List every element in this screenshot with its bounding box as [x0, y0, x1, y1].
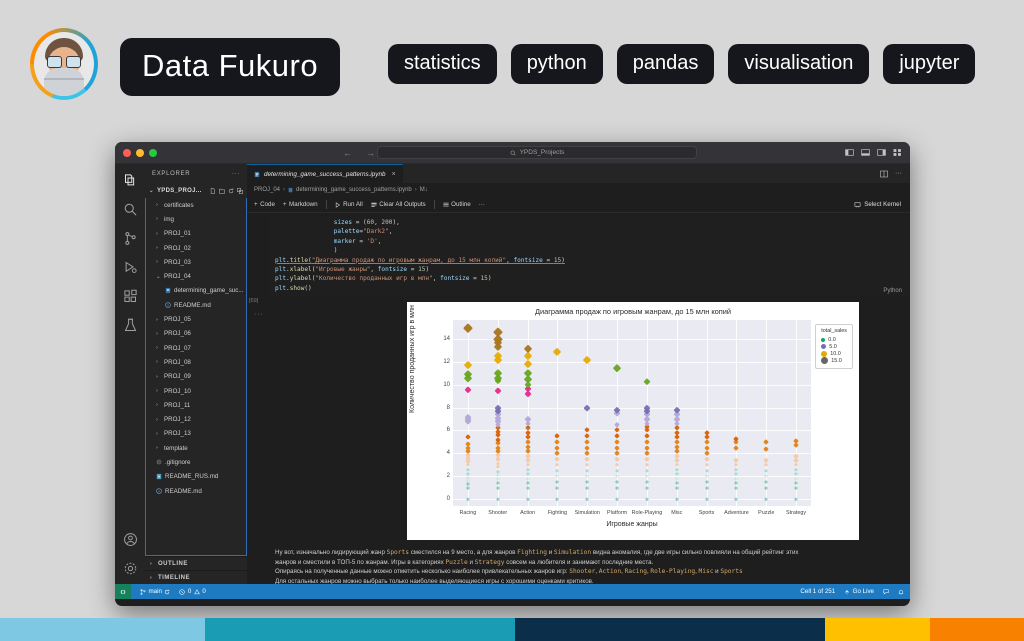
- scatter-point: [675, 486, 679, 490]
- scatter-point: [585, 480, 589, 484]
- select-kernel-label: Select Kernel: [864, 201, 901, 208]
- cell-language[interactable]: Python: [883, 288, 902, 294]
- git-file-icon: [156, 459, 162, 466]
- scatter-point: [584, 404, 591, 411]
- scatter-point: [525, 467, 530, 472]
- genre-mention: Shooter: [569, 568, 595, 575]
- y-tick-label: 0: [447, 496, 450, 502]
- minimize-window-icon[interactable]: [136, 149, 144, 157]
- scatter-point: [763, 439, 769, 445]
- x-tick-label: Sports: [699, 510, 715, 516]
- chevron-right-icon: ›: [156, 331, 161, 337]
- explorer-section-timeline[interactable]: › TIMELINE: [145, 570, 247, 584]
- clear-all-outputs-button[interactable]: Clear All Outputs: [371, 201, 426, 208]
- scatter-point: [675, 498, 679, 502]
- add-markdown-label: Markdown: [289, 201, 318, 208]
- grid-line-horizontal: [453, 408, 811, 409]
- scatter-point: [674, 462, 679, 467]
- scatter-point: [526, 486, 530, 490]
- scatter-point: [644, 451, 649, 456]
- x-tick-label: Misc: [671, 510, 682, 516]
- tree-folder-proj_12[interactable]: ›PROJ_12: [146, 412, 246, 426]
- scatter-point: [645, 486, 649, 490]
- tree-item-label: PROJ_11: [164, 402, 190, 409]
- scatter-point: [615, 480, 619, 484]
- branch-label: main: [149, 588, 162, 595]
- color-band: [0, 618, 205, 641]
- tag-python: python: [511, 44, 603, 84]
- scatter-point: [555, 486, 559, 490]
- y-tick-label: 10: [443, 382, 450, 388]
- tree-folder-proj_13[interactable]: ›PROJ_13: [146, 427, 246, 441]
- ellipsis-icon[interactable]: ···: [232, 171, 240, 177]
- scatter-point: [613, 364, 621, 372]
- scatter-point: [614, 451, 619, 456]
- tree-item-label: certificates: [164, 202, 194, 209]
- tree-item-label: PROJ_03: [164, 259, 191, 266]
- tab-strip: determining_game_success_patterns.ipynb …: [247, 164, 910, 183]
- tree-file-readme.md[interactable]: README.md: [146, 484, 246, 498]
- chevron-right-icon: ›: [156, 202, 161, 208]
- legend-item: 5.0: [821, 343, 847, 350]
- y-tick-label: 8: [447, 405, 450, 411]
- tree-item-label: PROJ_02: [164, 245, 191, 252]
- explorer-section-outline[interactable]: › OUTLINE: [145, 556, 247, 570]
- new-file-icon[interactable]: [210, 188, 216, 194]
- divider: [326, 200, 327, 209]
- genre-mention: Racing: [625, 568, 647, 575]
- chevron-right-icon: ›: [415, 187, 417, 193]
- scatter-point: [496, 481, 500, 485]
- genre-mention: Role-Playing: [650, 568, 695, 575]
- legend-label: 15.0: [831, 358, 842, 364]
- scatter-point: [794, 458, 799, 463]
- tree-file-readme.md[interactable]: README.md: [146, 298, 246, 312]
- breadcrumb-file[interactable]: determining_game_success_patterns.ipynb: [296, 187, 412, 193]
- scatter-point: [614, 433, 620, 439]
- notebook-icon: [288, 187, 293, 193]
- scatter-point: [704, 474, 708, 478]
- account-icon[interactable]: [123, 532, 138, 547]
- notebook-scroll[interactable]: sizes = (60, 200), palette="Dark2", mark…: [247, 213, 910, 584]
- remote-window-button[interactable]: [115, 584, 131, 599]
- toggle-primary-sidebar-icon[interactable]: [845, 148, 854, 157]
- explorer-root-label: YPDS_PROJ...: [157, 188, 202, 194]
- scatter-point: [614, 439, 620, 445]
- bell-icon[interactable]: [898, 589, 904, 595]
- explorer-root-row[interactable]: ⌄ YPDS_PROJ...: [145, 184, 247, 198]
- tag-pandas: pandas: [617, 44, 715, 84]
- y-tick-label: 2: [447, 473, 450, 479]
- toggle-secondary-sidebar-icon[interactable]: [877, 148, 886, 157]
- x-tick-label: Strategy: [786, 510, 806, 516]
- tree-item-label: README.md: [165, 488, 202, 495]
- markdown-line: Ну вот, изначально лидирующий жанр Sport…: [275, 548, 910, 558]
- avatar-face-icon: [34, 32, 94, 96]
- notebook-toolbar: + Code + Markdown Run All Clear All Outp…: [247, 197, 910, 213]
- scatter-point: [764, 458, 769, 463]
- brand-title: Data Fukuro: [120, 38, 340, 96]
- layout-toggles[interactable]: [845, 148, 902, 157]
- scatter-point: [466, 498, 470, 502]
- scatter-point: [464, 387, 471, 394]
- scatter-point: [615, 498, 619, 502]
- tree-folder-img[interactable]: ›img: [146, 212, 246, 226]
- legend-item: 0.0: [821, 336, 847, 343]
- tree-folder-proj_07[interactable]: ›PROJ_07: [146, 341, 246, 355]
- select-kernel-button[interactable]: Select Kernel: [854, 201, 910, 208]
- scatter-point: [554, 433, 560, 439]
- scatter-point: [524, 369, 532, 377]
- scatter-point: [794, 481, 798, 485]
- tree-folder-proj_06[interactable]: ›PROJ_06: [146, 327, 246, 341]
- grid-line-horizontal: [453, 499, 811, 500]
- nav-arrows[interactable]: ← →: [343, 148, 375, 158]
- color-band: [930, 618, 1024, 641]
- tree-item-label: PROJ_09: [164, 373, 191, 380]
- legend-item: 15.0: [821, 357, 847, 364]
- grid-line-horizontal: [453, 362, 811, 363]
- customize-layout-icon[interactable]: [893, 148, 902, 157]
- add-code-cell-button[interactable]: + Code: [254, 201, 275, 208]
- add-markdown-cell-button[interactable]: + Markdown: [283, 201, 318, 208]
- run-and-debug-icon[interactable]: [123, 260, 138, 275]
- activity-bar: [115, 164, 145, 584]
- scatter-point: [496, 498, 500, 502]
- scatter-point: [555, 457, 560, 462]
- x-tick-label: Adventure: [724, 510, 749, 516]
- grid-line-vertical: [707, 320, 708, 506]
- scatter-point: [493, 327, 502, 336]
- md-file-icon: [156, 473, 162, 480]
- tree-folder-certificates[interactable]: ›certificates: [146, 198, 246, 212]
- y-tick-label: 6: [447, 427, 450, 433]
- scatter-point: [553, 348, 562, 357]
- chevron-right-icon: ›: [156, 245, 161, 251]
- tree-item-label: PROJ_01: [164, 230, 191, 237]
- tree-folder-proj_03[interactable]: ›PROJ_03: [146, 255, 246, 269]
- legend-label: 0.0: [828, 337, 836, 343]
- scatter-point: [793, 438, 799, 444]
- breadcrumb-folder[interactable]: PROJ_04: [254, 187, 280, 193]
- clear-all-label: Clear All Outputs: [379, 201, 425, 208]
- tree-item-label: PROJ_05: [164, 316, 191, 323]
- grid-line-horizontal: [453, 430, 811, 431]
- scatter-point: [465, 434, 471, 440]
- chevron-down-icon: ⌄: [156, 274, 161, 280]
- run-all-button[interactable]: Run All: [335, 201, 363, 208]
- markdown-line: Опираясь на полученные данные можно отме…: [275, 567, 910, 577]
- x-tick-label: Puzzle: [758, 510, 774, 516]
- scatter-point: [584, 439, 590, 445]
- tab-label: determining_game_success_patterns.ipynb: [264, 171, 385, 178]
- chevron-right-icon: ›: [156, 317, 161, 323]
- play-icon: [335, 202, 341, 208]
- chart-output: Диаграмма продаж по игровым жанрам, до 1…: [407, 302, 859, 540]
- code-cell[interactable]: sizes = (60, 200), palette="Dark2", mark…: [269, 216, 910, 296]
- scatter-point: [705, 498, 709, 502]
- chevron-right-icon: ›: [156, 388, 161, 394]
- tree-folder-proj_02[interactable]: ›PROJ_02: [146, 241, 246, 255]
- scatter-point: [644, 439, 650, 445]
- color-band: [205, 618, 515, 641]
- scatter-point: [526, 498, 530, 502]
- scatter-point: [555, 439, 561, 445]
- markdown-line: жанров и сместили в ТОП-5 по жанрам. Игр…: [275, 558, 910, 568]
- genre-mention: Sports: [387, 549, 409, 556]
- tree-item-label: PROJ_04: [164, 273, 191, 280]
- y-axis-ticks: 02468101214: [429, 320, 450, 506]
- window-controls[interactable]: [115, 149, 157, 157]
- scatter-point: [794, 498, 798, 502]
- x-tick-label: Action: [520, 510, 535, 516]
- scatter-point: [674, 467, 679, 472]
- legend-marker: [821, 344, 826, 349]
- breadcrumb-cell[interactable]: M↓: [420, 187, 428, 193]
- scatter-point: [645, 468, 650, 473]
- feedback-icon[interactable]: [883, 589, 889, 595]
- scatter-point: [704, 445, 709, 450]
- tag-statistics: statistics: [388, 44, 497, 84]
- execution-count: [69]: [249, 298, 258, 304]
- chevron-right-icon: ›: [156, 374, 161, 380]
- scatter-point: [704, 457, 709, 462]
- scatter-point: [525, 439, 531, 445]
- testing-icon[interactable]: [123, 318, 138, 333]
- color-band: [515, 618, 825, 641]
- chevron-right-icon: ›: [156, 345, 161, 351]
- chevron-right-icon: ›: [150, 575, 155, 581]
- add-code-label: Code: [260, 201, 275, 208]
- tree-folder-proj_04[interactable]: ⌄PROJ_04: [146, 269, 246, 283]
- scatter-point: [585, 468, 590, 473]
- tree-file-.gitignore[interactable]: .gitignore: [146, 455, 246, 469]
- genre-mention: Sports: [720, 568, 742, 575]
- chevron-right-icon: ›: [156, 259, 161, 265]
- scatter-point: [704, 439, 710, 445]
- markdown-line: Для остальных жанров можно выбрать тольк…: [275, 577, 910, 584]
- scatter-point: [645, 480, 649, 484]
- tree-folder-proj_08[interactable]: ›PROJ_08: [146, 355, 246, 369]
- maximize-window-icon[interactable]: [149, 149, 157, 157]
- search-icon[interactable]: [123, 202, 138, 217]
- scatter-point: [734, 445, 739, 450]
- scatter-point: [674, 439, 680, 445]
- error-icon: [179, 589, 185, 595]
- legend-marker: [821, 338, 825, 342]
- scatter-point: [704, 480, 708, 484]
- scatter-point: [585, 457, 590, 462]
- command-search-value: YPDS_Projects: [520, 149, 565, 156]
- cell-position-label[interactable]: Cell 1 of 251: [800, 588, 835, 595]
- sync-icon: [164, 589, 170, 595]
- tree-item-label: PROJ_12: [164, 416, 191, 423]
- run-all-label: Run All: [343, 201, 363, 208]
- scatter-point: [524, 416, 530, 422]
- arrow-left-icon[interactable]: ←: [343, 148, 352, 158]
- plus-icon: +: [254, 201, 258, 208]
- arrow-right-icon[interactable]: →: [366, 148, 375, 158]
- scatter-point: [466, 467, 471, 472]
- scatter-point: [523, 345, 532, 354]
- clear-icon: [371, 202, 377, 208]
- grid-line-horizontal: [453, 339, 811, 340]
- scatter-point: [644, 462, 649, 467]
- genre-mention: Fighting: [517, 549, 547, 556]
- branch-button[interactable]: main: [140, 588, 170, 595]
- scatter-point: [585, 445, 590, 450]
- status-bar: main 0 0 Cell 1 of 251 Go Live: [115, 584, 910, 599]
- x-tick-label: Racing: [460, 510, 477, 516]
- chart-title: Диаграмма продаж по игровым жанрам, до 1…: [407, 307, 859, 316]
- tree-folder-proj_11[interactable]: ›PROJ_11: [146, 398, 246, 412]
- go-live-button[interactable]: Go Live: [844, 588, 874, 595]
- scatter-point: [615, 486, 619, 490]
- tree-item-label: determining_game_suc...: [174, 287, 243, 294]
- scatter-point: [794, 486, 798, 490]
- refresh-icon[interactable]: [228, 188, 234, 194]
- source-control-icon[interactable]: [123, 231, 138, 246]
- scatter-point: [525, 481, 529, 485]
- vscode-window: ← → YPDS_Projects: [115, 142, 910, 606]
- git-branch-icon: [140, 589, 146, 595]
- scatter-point: [463, 323, 473, 333]
- bottom-color-strip: [0, 618, 1024, 641]
- tree-folder-proj_05[interactable]: ›PROJ_05: [146, 312, 246, 326]
- tree-item-label: README_RUS.md: [165, 473, 218, 480]
- problems-button[interactable]: 0 0: [179, 588, 205, 595]
- chevron-right-icon: ›: [156, 417, 161, 423]
- tree-item-label: README.md: [174, 302, 211, 309]
- scatter-point: [494, 388, 501, 395]
- info-file-icon: [156, 488, 162, 495]
- markdown-cell[interactable]: Ну вот, изначально лидирующий жанр Sport…: [269, 548, 910, 584]
- notebook-file-icon: [165, 287, 171, 294]
- tree-item-label: PROJ_13: [164, 430, 191, 437]
- grid-line-horizontal: [453, 385, 811, 386]
- tree-file-readme_rus.md[interactable]: README_RUS.md: [146, 470, 246, 484]
- go-live-label: Go Live: [853, 588, 874, 595]
- scatter-point: [734, 436, 740, 442]
- command-search-input[interactable]: YPDS_Projects: [377, 146, 697, 159]
- genre-mention: Strategy: [475, 559, 505, 566]
- scatter-point: [675, 476, 679, 480]
- tree-folder-proj_09[interactable]: ›PROJ_09: [146, 370, 246, 384]
- tree-item-label: PROJ_10: [164, 388, 191, 395]
- remote-window-icon: [120, 589, 126, 595]
- scatter-point: [794, 467, 799, 472]
- tab-notebook[interactable]: determining_game_success_patterns.ipynb …: [247, 164, 403, 183]
- notebook-icon: [254, 171, 260, 178]
- tab-actions[interactable]: ···: [880, 164, 910, 183]
- toolbar-more-icon[interactable]: ···: [479, 201, 485, 208]
- scatter-point: [764, 468, 769, 473]
- cell-output-collapse-icon[interactable]: ···: [254, 311, 264, 318]
- scatter-point: [555, 480, 559, 484]
- avatar: [30, 28, 98, 100]
- scatter-point: [705, 486, 709, 490]
- explorer-header: EXPLORER ···: [145, 164, 247, 184]
- collapse-all-icon[interactable]: [237, 188, 243, 194]
- tree-item-label: .gitignore: [165, 459, 190, 466]
- scatter-point: [555, 468, 560, 473]
- kernel-icon: [854, 201, 861, 208]
- split-editor-icon[interactable]: [880, 170, 888, 178]
- scatter-point: [496, 476, 500, 480]
- scatter-point: [585, 486, 589, 490]
- explorer-icon[interactable]: [123, 173, 138, 188]
- scatter-point: [645, 474, 649, 478]
- scatter-point: [615, 468, 620, 473]
- scatter-point: [764, 446, 769, 451]
- genre-mention: Simulation: [554, 549, 591, 556]
- toggle-panel-icon[interactable]: [861, 148, 870, 157]
- explorer-sections: › OUTLINE › TIMELINE: [145, 556, 247, 584]
- page-banner: Data Fukuro statistics python pandas vis…: [0, 0, 1024, 128]
- y-tick-label: 4: [447, 450, 450, 456]
- genre-mention: Action: [599, 568, 621, 575]
- editor-area: determining_game_success_patterns.ipynb …: [247, 164, 910, 584]
- tree-folder-template[interactable]: ›template: [146, 441, 246, 455]
- tree-folder-proj_01[interactable]: ›PROJ_01: [146, 227, 246, 241]
- scatter-point: [704, 468, 709, 473]
- chevron-right-icon: ›: [156, 431, 161, 437]
- close-window-icon[interactable]: [123, 149, 131, 157]
- breadcrumb[interactable]: PROJ_04 › determining_game_success_patte…: [247, 183, 910, 197]
- grid-line-vertical: [766, 320, 767, 506]
- title-bar: ← → YPDS_Projects: [115, 142, 910, 164]
- legend-item: 10.0: [821, 350, 847, 357]
- genre-mention: Puzzle: [445, 559, 467, 566]
- chevron-right-icon: ›: [156, 216, 161, 222]
- y-axis-label: Количество проданных игр в млн: [409, 305, 416, 413]
- chart-legend: total_sales 0.05.010.015.0: [815, 324, 853, 369]
- x-tick-label: Fighting: [548, 510, 567, 516]
- tree-file-determining_game_suc...[interactable]: determining_game_suc...: [146, 284, 246, 298]
- divider: [434, 200, 435, 209]
- tree-item-label: PROJ_08: [164, 359, 191, 366]
- outline-button[interactable]: Outline: [443, 201, 471, 208]
- scatter-point: [645, 498, 649, 502]
- tree-folder-proj_10[interactable]: ›PROJ_10: [146, 384, 246, 398]
- tag-list: statistics python pandas visualisation j…: [388, 44, 975, 84]
- chevron-down-icon[interactable]: ⌄: [149, 188, 154, 194]
- scatter-point: [644, 457, 649, 462]
- close-icon[interactable]: ×: [391, 171, 395, 178]
- file-tree[interactable]: ›certificates›img›PROJ_01›PROJ_02›PROJ_0…: [145, 198, 247, 556]
- scatter-point: [614, 445, 619, 450]
- x-tick-label: Simulation: [575, 510, 600, 516]
- plus-icon: +: [283, 201, 287, 208]
- new-folder-icon[interactable]: [219, 188, 225, 194]
- scatter-point: [704, 462, 709, 467]
- scatter-point: [525, 476, 529, 480]
- scatter-point: [675, 481, 679, 485]
- scatter-point: [704, 451, 709, 456]
- search-icon: [510, 150, 516, 156]
- scatter-point: [764, 486, 768, 490]
- scatter-point: [644, 445, 649, 450]
- scatter-point: [615, 462, 620, 467]
- x-tick-label: Role-Playing: [632, 510, 663, 516]
- tag-jupyter: jupyter: [883, 44, 975, 84]
- extensions-icon[interactable]: [123, 289, 138, 304]
- tree-item-label: PROJ_06: [164, 330, 191, 337]
- settings-gear-icon[interactable]: [123, 561, 138, 576]
- x-tick-label: Platform: [607, 510, 627, 516]
- more-actions-icon[interactable]: ···: [895, 170, 902, 177]
- legend-label: 5.0: [829, 344, 837, 350]
